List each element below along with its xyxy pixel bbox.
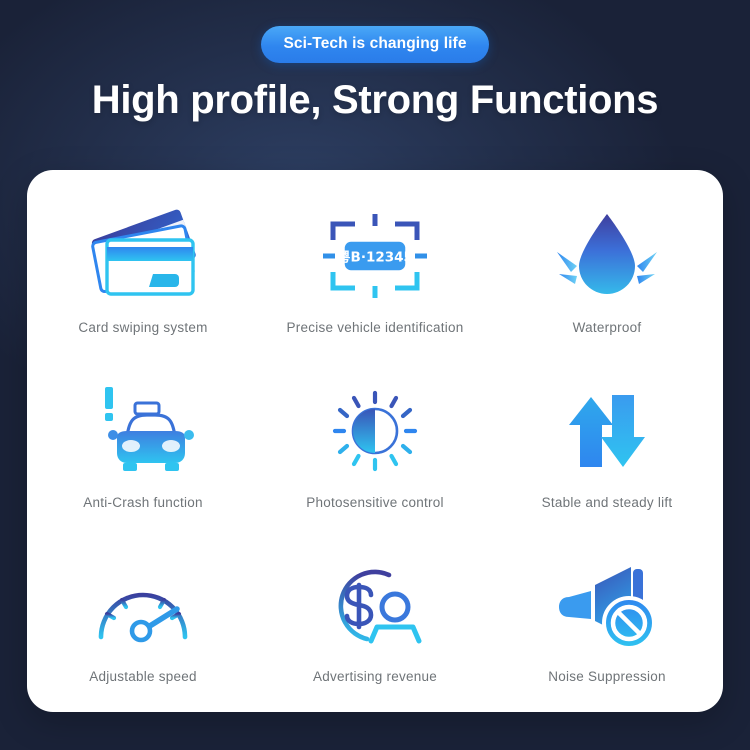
- feature-stable-and-steady-lift[interactable]: Stable and steady lift: [491, 379, 723, 510]
- feature-label: Photosensitive control: [306, 495, 444, 510]
- speedometer-icon: [73, 553, 213, 657]
- feature-waterproof[interactable]: Waterproof: [491, 204, 723, 335]
- dollar-person-icon: [305, 553, 445, 657]
- credit-cards-icon: [73, 204, 213, 308]
- tagline-badge: Sci-Tech is changing life: [261, 26, 488, 63]
- water-drop-icon: [537, 204, 677, 308]
- feature-label: Stable and steady lift: [542, 495, 673, 510]
- license-plate-text: 粤B·12345: [337, 249, 413, 266]
- feature-label: Adjustable speed: [89, 669, 197, 684]
- feature-noise-suppression[interactable]: Noise Suppression: [491, 553, 723, 684]
- muted-megaphone-icon: [537, 553, 677, 657]
- page-title: High profile, Strong Functions: [0, 78, 750, 123]
- feature-advertising-revenue[interactable]: Advertising revenue: [259, 553, 491, 684]
- up-down-arrows-icon: [537, 379, 677, 483]
- features-card: Card swiping system: [27, 170, 723, 712]
- feature-label: Noise Suppression: [548, 669, 666, 684]
- feature-label: Advertising revenue: [313, 669, 437, 684]
- feature-anti-crash-function[interactable]: Anti-Crash function: [27, 379, 259, 510]
- feature-adjustable-speed[interactable]: Adjustable speed: [27, 553, 259, 684]
- feature-row-2: Anti-Crash function: [27, 379, 723, 510]
- feature-row-3: Adjustable speed: [27, 553, 723, 684]
- feature-row-1: Card swiping system: [27, 204, 723, 335]
- feature-photosensitive-control[interactable]: Photosensitive control: [259, 379, 491, 510]
- brightness-half-icon: [305, 379, 445, 483]
- feature-label: Precise vehicle identification: [286, 320, 463, 335]
- taxi-warning-icon: [73, 379, 213, 483]
- promo-page: Sci-Tech is changing life High profile, …: [0, 0, 750, 750]
- badge-container: Sci-Tech is changing life: [0, 26, 750, 63]
- feature-label: Anti-Crash function: [83, 495, 203, 510]
- license-plate-scan-icon: 粤B·12345: [305, 204, 445, 308]
- feature-label: Card swiping system: [78, 320, 207, 335]
- feature-precise-vehicle-identification[interactable]: 粤B·12345 Precise vehicle identification: [259, 204, 491, 335]
- feature-label: Waterproof: [573, 320, 642, 335]
- feature-card-swiping-system[interactable]: Card swiping system: [27, 204, 259, 335]
